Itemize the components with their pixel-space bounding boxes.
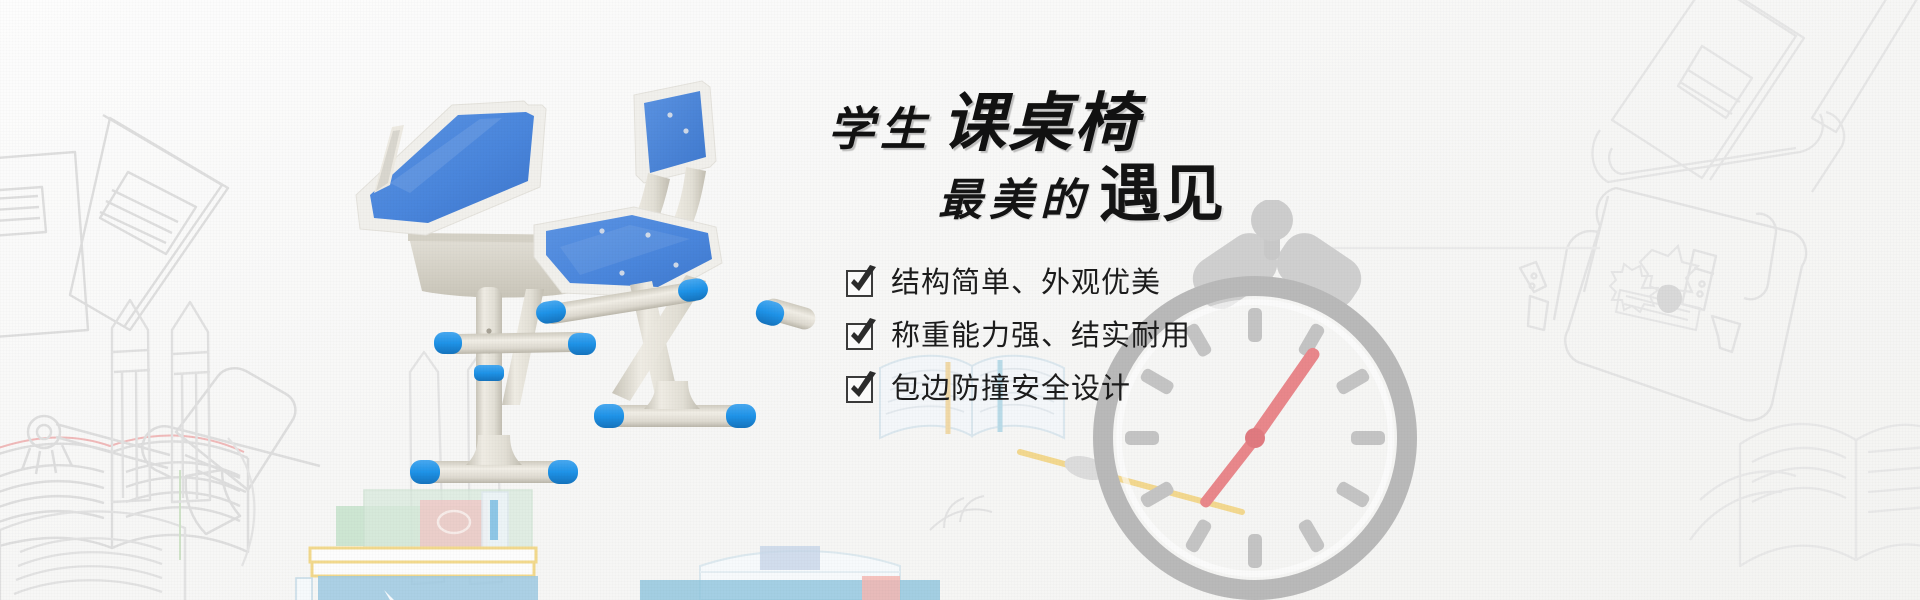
feature-item: 包边防撞安全设计	[846, 372, 1440, 406]
satchel-badge-icon	[1610, 264, 1700, 330]
desk	[356, 101, 596, 484]
book-stack-outline-2	[640, 546, 940, 600]
headline-primary-small: 学生	[828, 104, 932, 155]
feature-label: 称重能力强、结实耐用	[891, 322, 1191, 351]
notebook-outline	[0, 115, 228, 338]
open-magazine-outline	[0, 511, 185, 600]
headline-secondary: 最美的遇见	[938, 164, 1440, 226]
checkbox-check-icon	[846, 323, 873, 350]
chair	[534, 81, 818, 428]
leaf-outline	[930, 496, 992, 530]
feature-list: 结构简单、外观优美 称重能力强、结实耐用 包边防撞安	[846, 266, 1440, 406]
feature-item: 称重能力强、结实耐用	[846, 319, 1440, 353]
copy-block: 学生课桌椅 最美的遇见 结构简单、外观优美	[820, 92, 1440, 425]
headline-secondary-small: 最美的	[938, 176, 1091, 225]
student-desk-and-chair-photo	[330, 75, 850, 505]
feature-item: 结构简单、外观优美	[846, 266, 1440, 300]
checkbox-check-icon	[846, 376, 873, 403]
checkbox-check-icon	[846, 270, 873, 297]
headline-secondary-big: 遇见	[1099, 160, 1225, 229]
book-fan-outline	[1690, 424, 1920, 566]
headline-primary-big: 课桌椅	[942, 88, 1140, 159]
promo-banner: 学生课桌椅 最美的遇见 结构简单、外观优美	[0, 0, 1920, 600]
headline-primary: 学生课桌椅	[828, 92, 1440, 156]
backpack-outline	[1592, 0, 1920, 192]
feature-label: 结构简单、外观优美	[891, 269, 1161, 298]
feature-label: 包边防撞安全设计	[891, 375, 1131, 404]
